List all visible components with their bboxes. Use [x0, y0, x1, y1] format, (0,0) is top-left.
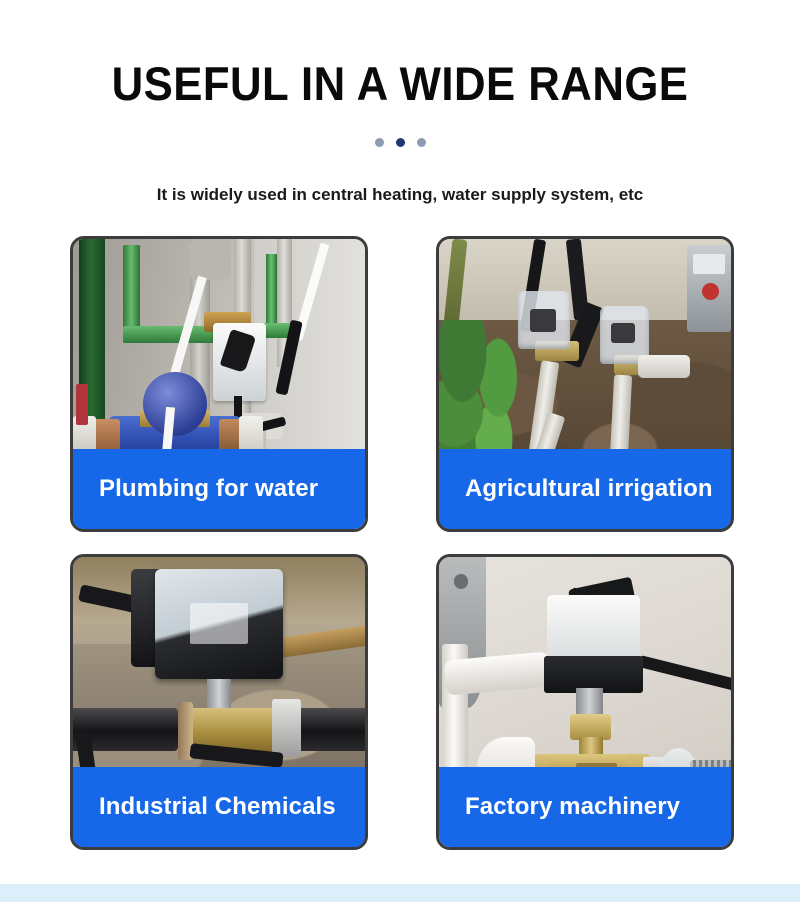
- card-caption-label: Agricultural irrigation: [465, 475, 713, 503]
- application-card-factory[interactable]: Factory machinery: [436, 554, 734, 850]
- card-caption-label: Industrial Chemicals: [99, 793, 336, 821]
- photo-red-marking: [76, 384, 88, 425]
- photo-junction-box: [190, 239, 231, 280]
- page-subtitle: It is widely used in central heating, wa…: [0, 182, 800, 208]
- carousel-dot-3[interactable]: [417, 138, 426, 147]
- photo-white-elbow: [638, 355, 691, 378]
- carousel-dot-2-active[interactable]: [396, 138, 405, 147]
- application-card-plumbing[interactable]: Plumbing for water: [70, 236, 368, 532]
- page-root: USEFUL IN A WIDE RANGE It is widely used…: [0, 0, 800, 902]
- photo-brass-gland: [570, 714, 611, 740]
- carousel-dots: [0, 138, 800, 147]
- card-caption-label: Plumbing for water: [99, 475, 318, 503]
- photo-actuator-label: [190, 603, 248, 644]
- application-card-irrigation[interactable]: Agricultural irrigation: [436, 236, 734, 532]
- carousel-dot-1[interactable]: [375, 138, 384, 147]
- application-card-industrial[interactable]: Industrial Chemicals: [70, 554, 368, 850]
- photo-actuator-wire: [638, 655, 731, 690]
- footer-strip: [0, 884, 800, 902]
- photo-control-box-button: [702, 283, 720, 300]
- photo-hex-nut: [272, 699, 301, 757]
- card-caption-bar: Agricultural irrigation: [439, 449, 731, 529]
- card-caption-bar: Factory machinery: [439, 767, 731, 847]
- photo-bracket-hole: [454, 574, 469, 589]
- application-card-grid: Plumbing for water: [70, 236, 734, 850]
- photo-control-box-panel: [693, 254, 725, 274]
- card-caption-bar: Industrial Chemicals: [73, 767, 365, 847]
- photo-water-meter-dial: [143, 372, 207, 436]
- card-caption-bar: Plumbing for water: [73, 449, 365, 529]
- page-title: USEFUL IN A WIDE RANGE: [28, 56, 772, 112]
- card-caption-label: Factory machinery: [465, 793, 680, 821]
- photo-wrapped-valve-right-core: [611, 323, 634, 343]
